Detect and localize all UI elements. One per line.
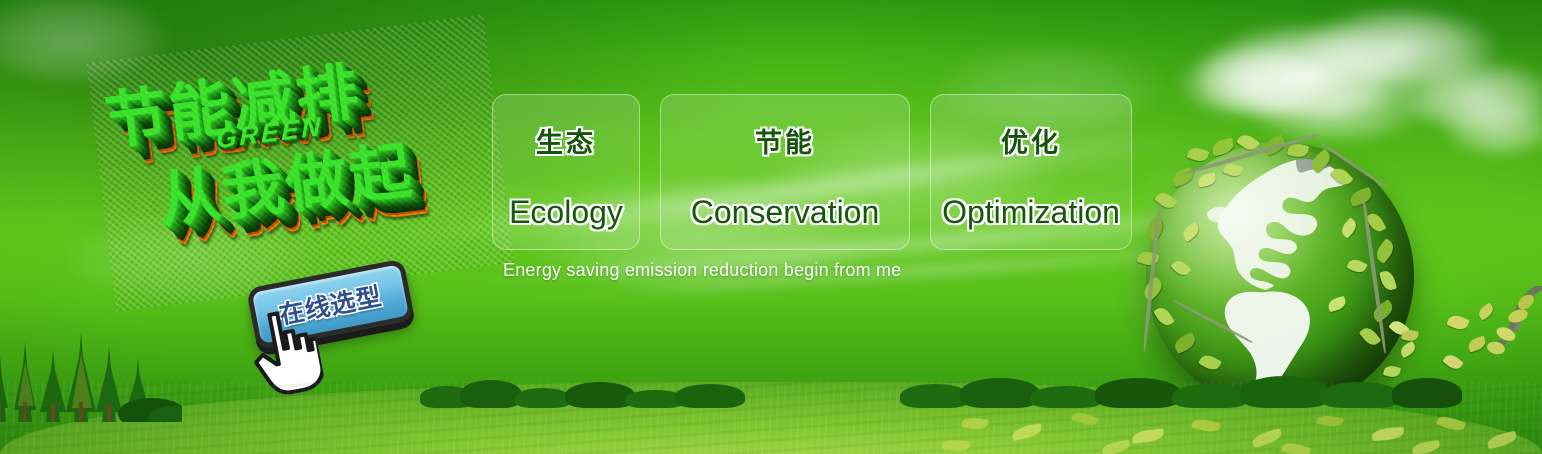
eco-promo-banner: 节能减排 GREEN 从我做起 在线选型 生态 Ecology 节能 Conse… (0, 0, 1542, 454)
feature-box-group: 生态 Ecology 节能 Conservation 优化 Optimizati… (492, 94, 1132, 250)
feature-box-cn-label: 优化 (1001, 121, 1061, 160)
globe-sphere (1146, 142, 1414, 410)
feature-box-optimization[interactable]: 优化 Optimization (930, 94, 1132, 250)
feature-box-en-label: Conservation (691, 194, 880, 231)
feature-box-ecology[interactable]: 生态 Ecology (492, 94, 640, 250)
feature-box-cn-label: 生态 (536, 121, 596, 160)
distant-treeline (900, 374, 1460, 408)
conifer-trees-icon (0, 322, 182, 422)
cloud-icon (1195, 22, 1425, 118)
distant-treeline (420, 374, 760, 408)
cloud-icon (1390, 58, 1542, 128)
feature-box-cn-label: 节能 (755, 121, 815, 160)
banner-subtitle: Energy saving emission reduction begin f… (503, 260, 901, 281)
cloud-icon (1440, 96, 1542, 154)
cloud-icon (1300, 6, 1500, 84)
tree-branch-icon (1422, 286, 1542, 396)
headline-3d: 节能减排 GREEN 从我做起 (86, 15, 513, 312)
feature-box-en-label: Ecology (509, 194, 623, 231)
feature-box-conservation[interactable]: 节能 Conservation (660, 94, 910, 250)
feature-box-en-label: Optimization (942, 194, 1120, 231)
cloud-icon (1178, 46, 1328, 116)
